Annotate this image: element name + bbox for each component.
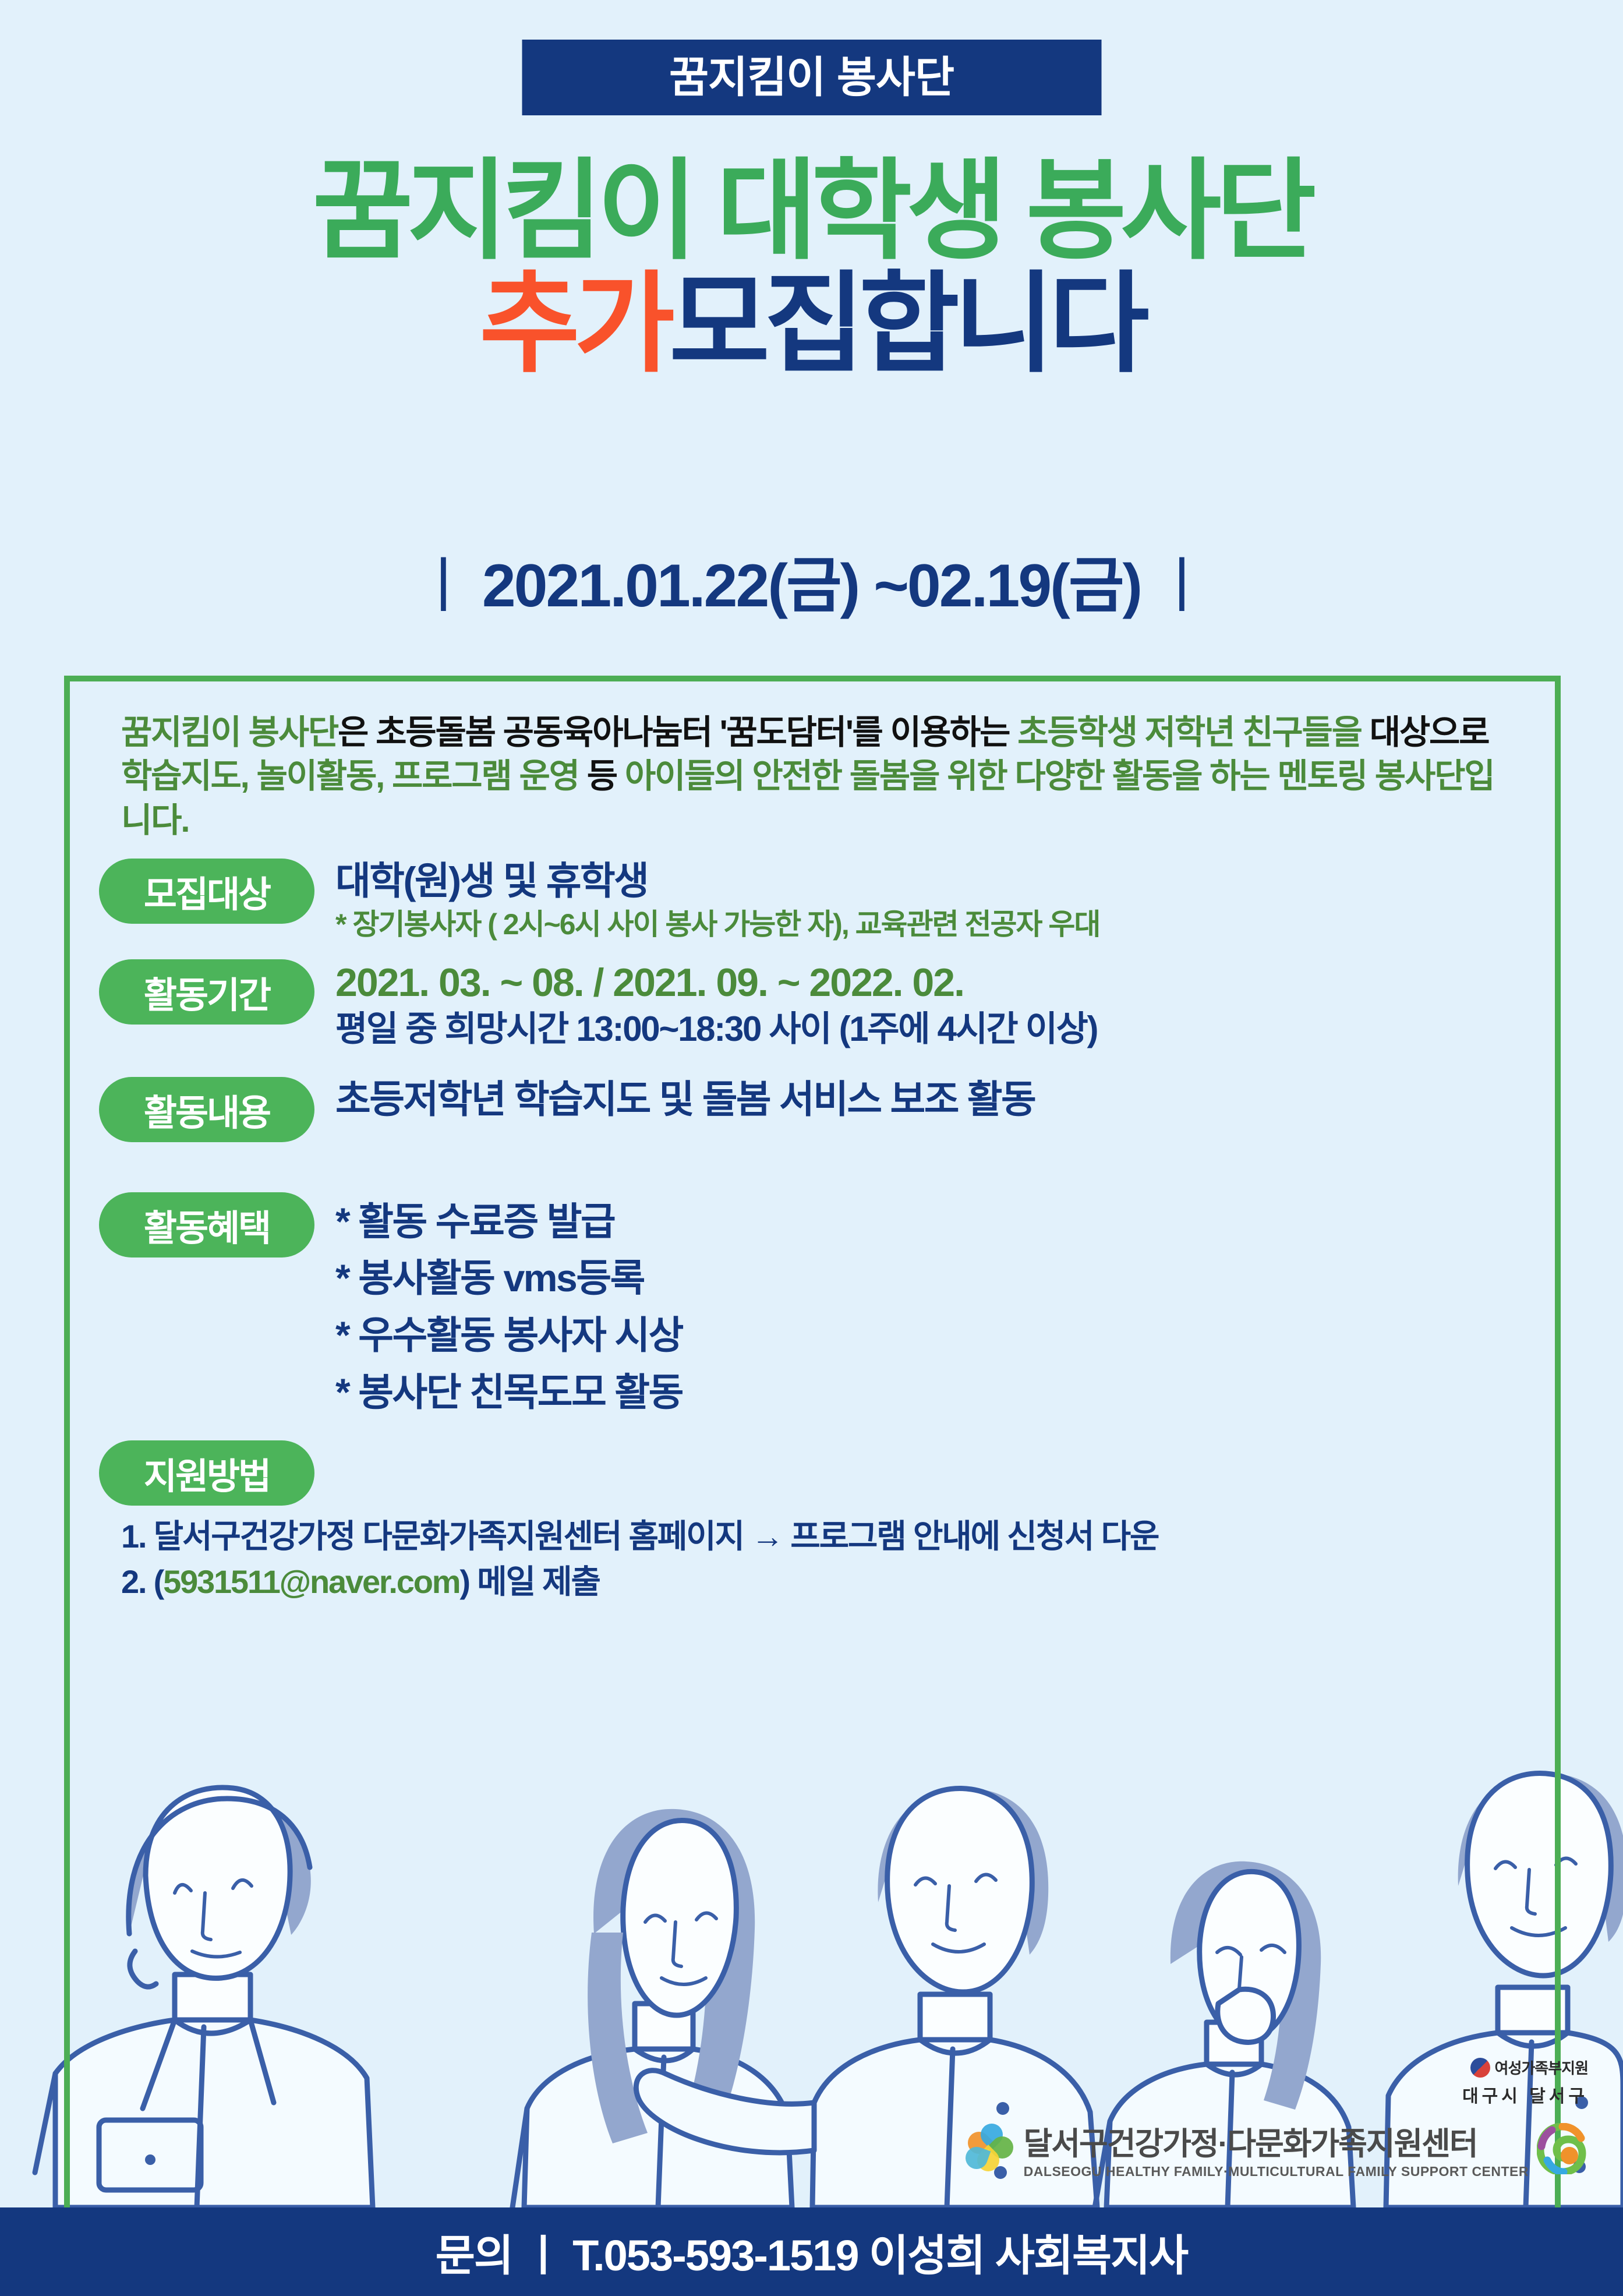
benefit-item: * 봉사단 친목도모 활동 <box>335 1364 1529 1421</box>
headline-line-2: 추가모집합니다 <box>0 270 1623 377</box>
intro-seg-6: 등 <box>587 757 625 795</box>
intro-seg-2: 은 초등돌봄 공동육아나눔터 '꿈도담터'를 이용하는 <box>338 713 1017 751</box>
intro-seg-4: 대상으로 <box>1370 713 1489 751</box>
period-primary-text: 2021. 03. ~ 08. / 2021. 09. ~ 2022. 02. <box>335 960 1529 1005</box>
intro-seg-5: 학습지도, 놀이활동, 프로그램 운영 <box>121 757 587 795</box>
intro-seg-3: 초등학생 저학년 친구들을 <box>1017 713 1362 751</box>
date-right-bar: ㅣ <box>1154 536 1208 624</box>
municipality-label: 대구시 달서구 <box>966 2082 1588 2107</box>
contact-footer-text: 문의 ㅣ T.053-593-1519 이성희 사회복지사 <box>436 2221 1188 2283</box>
section-row-period: 활동기간 2021. 03. ~ 08. / 2021. 09. ~ 2022.… <box>99 959 1529 1050</box>
headline-recruiting: 모집합니다 <box>669 263 1144 385</box>
apply-step-2-suffix: ) 메일 제출 <box>459 1563 599 1600</box>
section-pill-target: 모집대상 <box>99 859 314 924</box>
apply-email-address[interactable]: 5931511@naver.com <box>163 1563 459 1600</box>
apply-steps-list: 1. 달서구건강가정 다문화가족지원센터 홈페이지 → 프로그램 안내에 신청서… <box>99 1514 1529 1604</box>
benefit-item: * 봉사활동 vms등록 <box>335 1250 1529 1307</box>
section-row-apply: 지원방법 <box>99 1440 1529 1506</box>
section-row-content: 활동내용 초등저학년 학습지도 및 돌봄 서비스 보조 활동 <box>99 1077 1529 1142</box>
intro-paragraph: 꿈지킴이 봉사단은 초등돌봄 공동육아나눔터 '꿈도담터'를 이용하는 초등학생… <box>99 711 1529 842</box>
period-sub-text: 평일 중 희망시간 13:00~18:30 사이 (1주에 4시간 이상) <box>335 1008 1529 1050</box>
program-badge-label: 꿈지킴이 봉사단 <box>669 56 954 99</box>
date-range-text: 2021.01.22(금) ~02.19(금) <box>482 552 1141 620</box>
target-sub-text: * 장기봉사자 ( 2시~6시 사이 봉사 가능한 자), 교육관련 전공자 우… <box>335 906 1529 943</box>
apply-step-2: 2. (5931511@naver.com) 메일 제출 <box>121 1559 1529 1604</box>
organization-logo-block: 여성가족부지원 대구시 달서구 달서구건강가정·다문화가족지원센터 DALSEO… <box>966 2057 1588 2180</box>
student-figure-1 <box>35 1788 373 2207</box>
korea-government-emblem-icon <box>1470 2058 1490 2078</box>
section-row-target: 모집대상 대학(원)생 및 휴학생 * 장기봉사자 ( 2시~6시 사이 봉사 … <box>99 859 1529 942</box>
benefit-item: * 활동 수료증 발급 <box>335 1193 1529 1251</box>
section-body-benefits: * 활동 수료증 발급 * 봉사활동 vms등록 * 우수활동 봉사자 시상 *… <box>335 1192 1529 1421</box>
section-pill-content: 활동내용 <box>99 1077 314 1142</box>
center-logo-row: 달서구건강가정·다문화가족지원센터 DALSEOGU HEALTHY FAMIL… <box>966 2118 1588 2180</box>
application-period: ㅣ2021.01.22(금) ~02.19(금)ㅣ <box>0 536 1623 624</box>
intro-seg-1: 꿈지킴이 봉사단 <box>121 713 338 751</box>
section-pill-benefits: 활동혜택 <box>99 1192 314 1257</box>
content-body: 꿈지킴이 봉사단은 초등돌봄 공동육아나눔터 '꿈도담터'를 이용하는 초등학생… <box>64 676 1561 1604</box>
contact-footer: 문의 ㅣ T.053-593-1519 이성희 사회복지사 <box>0 2207 1623 2296</box>
program-badge: 꿈지킴이 봉사단 <box>522 40 1101 115</box>
section-pill-apply-wrap: 지원방법 <box>99 1440 314 1506</box>
apply-step-1: 1. 달서구건강가정 다문화가족지원센터 홈페이지 → 프로그램 안내에 신청서… <box>121 1514 1529 1559</box>
section-pill-apply: 지원방법 <box>99 1440 314 1506</box>
headline-emphasis-recruit-extra: 추가 <box>479 263 669 385</box>
section-pill-period: 활동기간 <box>99 959 314 1025</box>
date-left-bar: ㅣ <box>415 536 469 624</box>
section-body-target: 대학(원)생 및 휴학생 * 장기봉사자 ( 2시~6시 사이 봉사 가능한 자… <box>335 859 1529 942</box>
section-body-content: 초등저학년 학습지도 및 돌봄 서비스 보조 활동 <box>335 1077 1529 1121</box>
multicultural-swirl-icon <box>1537 2123 1588 2174</box>
content-primary-text: 초등저학년 학습지도 및 돌봄 서비스 보조 활동 <box>335 1078 1529 1121</box>
center-name-korean: 달서구건강가정·다문화가족지원센터 <box>1024 2127 1477 2161</box>
benefit-item: * 우수활동 봉사자 시상 <box>335 1307 1529 1364</box>
target-primary-text: 대학(원)생 및 휴학생 <box>335 860 1529 903</box>
section-body-period: 2021. 03. ~ 08. / 2021. 09. ~ 2022. 02. … <box>335 959 1529 1050</box>
poster-root: 꿈지킴이 봉사단 꿈지킴이 대학생 봉사단 추가모집합니다 ㅣ2021.01.2… <box>0 0 1623 2296</box>
government-support-logo: 여성가족부지원 <box>966 2057 1588 2078</box>
headline-block: 꿈지킴이 대학생 봉사단 추가모집합니다 <box>0 157 1623 377</box>
section-row-benefits: 활동혜택 * 활동 수료증 발급 * 봉사활동 vms등록 * 우수활동 봉사자… <box>99 1192 1529 1421</box>
pinwheel-flower-icon <box>966 2124 1016 2174</box>
government-support-label: 여성가족부지원 <box>1495 2057 1588 2078</box>
center-name-block: 달서구건강가정·다문화가족지원센터 DALSEOGU HEALTHY FAMIL… <box>1024 2118 1529 2180</box>
apply-step-2-prefix: 2. ( <box>121 1563 163 1600</box>
center-name-english: DALSEOGU HEALTHY FAMILY·MULTICULTURAL FA… <box>1024 2164 1529 2179</box>
headline-line-1: 꿈지킴이 대학생 봉사단 <box>0 157 1623 264</box>
